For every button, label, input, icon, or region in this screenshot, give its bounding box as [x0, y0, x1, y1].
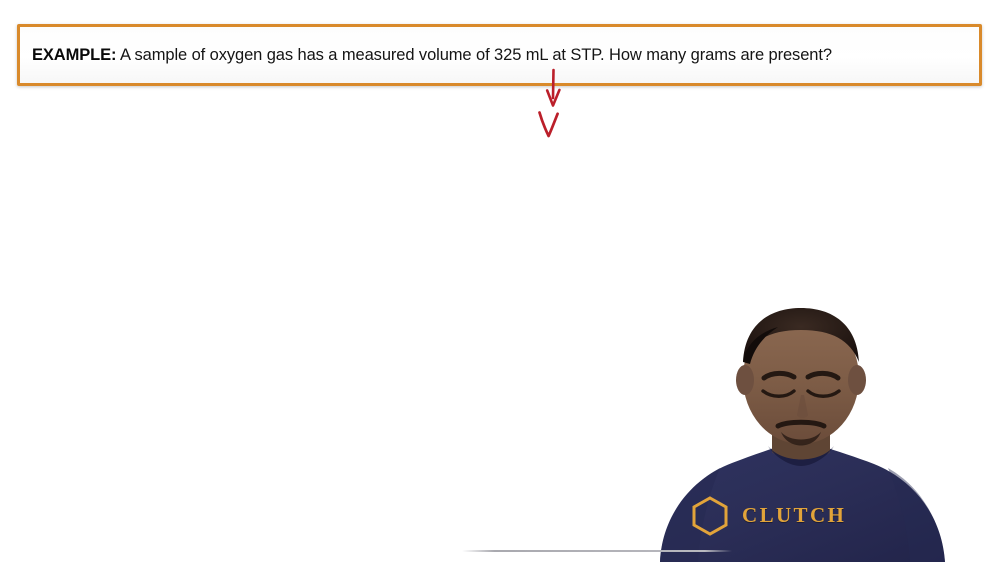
- slide-canvas: EXAMPLE: A sample of oxygen gas has a me…: [0, 0, 1000, 562]
- example-problem-box: EXAMPLE: A sample of oxygen gas has a me…: [17, 24, 982, 86]
- example-text-line: EXAMPLE: A sample of oxygen gas has a me…: [32, 45, 832, 66]
- instructor-head: [736, 308, 866, 446]
- desk-edge-line: [462, 550, 732, 552]
- example-label: EXAMPLE:: [32, 46, 116, 64]
- clutch-logo-text: CLUTCH: [742, 503, 846, 528]
- example-box-inner: EXAMPLE: A sample of oxygen gas has a me…: [20, 27, 979, 83]
- example-question-text: A sample of oxygen gas has a measured vo…: [116, 46, 831, 64]
- handwritten-v-symbol: [540, 113, 558, 137]
